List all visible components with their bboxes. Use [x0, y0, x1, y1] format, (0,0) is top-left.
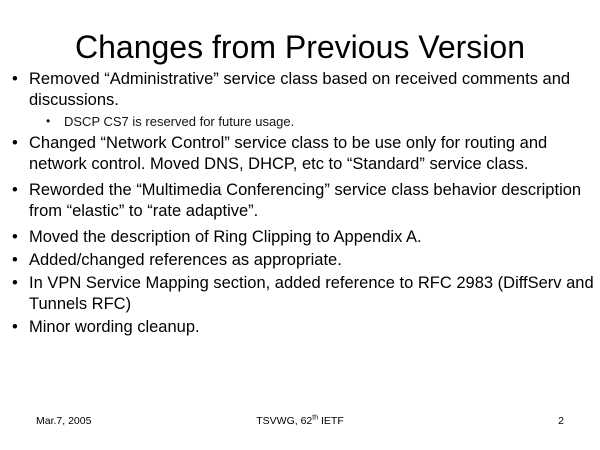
list-item-text: Moved the description of Ring Clipping t…	[29, 227, 598, 248]
footer-meeting-tail: IETF	[318, 415, 344, 427]
sub-bullet-marker-icon: •	[46, 113, 50, 130]
footer-center: TSVWG, 62th IETF	[0, 411, 600, 431]
list-item-text: Reworded the “Multimedia Conferencing” s…	[29, 180, 598, 222]
list-item: • Removed “Administrative” service class…	[6, 69, 598, 130]
list-item-text: In VPN Service Mapping section, added re…	[29, 273, 598, 315]
bullet-marker-icon: •	[12, 227, 18, 248]
sub-bullet-list: • DSCP CS7 is reserved for future usage.	[29, 113, 598, 130]
bullet-marker-icon: •	[12, 133, 18, 154]
bullet-marker-icon: •	[12, 69, 18, 90]
list-item: • Moved the description of Ring Clipping…	[6, 227, 598, 248]
sub-list-item-text: DSCP CS7 is reserved for future usage.	[64, 114, 294, 129]
list-item: • Changed “Network Control” service clas…	[6, 133, 598, 175]
footer-meeting-name: TSVWG, 62	[256, 415, 312, 427]
bullet-marker-icon: •	[12, 273, 18, 294]
slide-footer: Mar.7, 2005 TSVWG, 62th IETF 2	[0, 411, 600, 431]
sub-list-item: • DSCP CS7 is reserved for future usage.	[38, 113, 598, 130]
list-item: • Reworded the “Multimedia Conferencing”…	[6, 180, 598, 222]
list-item-text: Removed “Administrative” service class b…	[29, 69, 598, 111]
list-item: • Added/changed references as appropriat…	[6, 250, 598, 271]
bullet-marker-icon: •	[12, 250, 18, 271]
bullet-list: • Removed “Administrative” service class…	[6, 69, 598, 339]
page-title: Changes from Previous Version	[0, 27, 600, 67]
list-item-text: Minor wording cleanup.	[29, 317, 598, 338]
list-item-text: Changed “Network Control” service class …	[29, 133, 598, 175]
list-item-text: Added/changed references as appropriate.	[29, 250, 598, 271]
bullet-marker-icon: •	[12, 180, 18, 201]
bullet-marker-icon: •	[12, 317, 18, 338]
list-item: • Minor wording cleanup.	[6, 317, 598, 338]
slide-canvas: Changes from Previous Version • Removed …	[0, 0, 600, 450]
list-item: • In VPN Service Mapping section, added …	[6, 273, 598, 315]
footer-page-number: 2	[558, 411, 564, 431]
